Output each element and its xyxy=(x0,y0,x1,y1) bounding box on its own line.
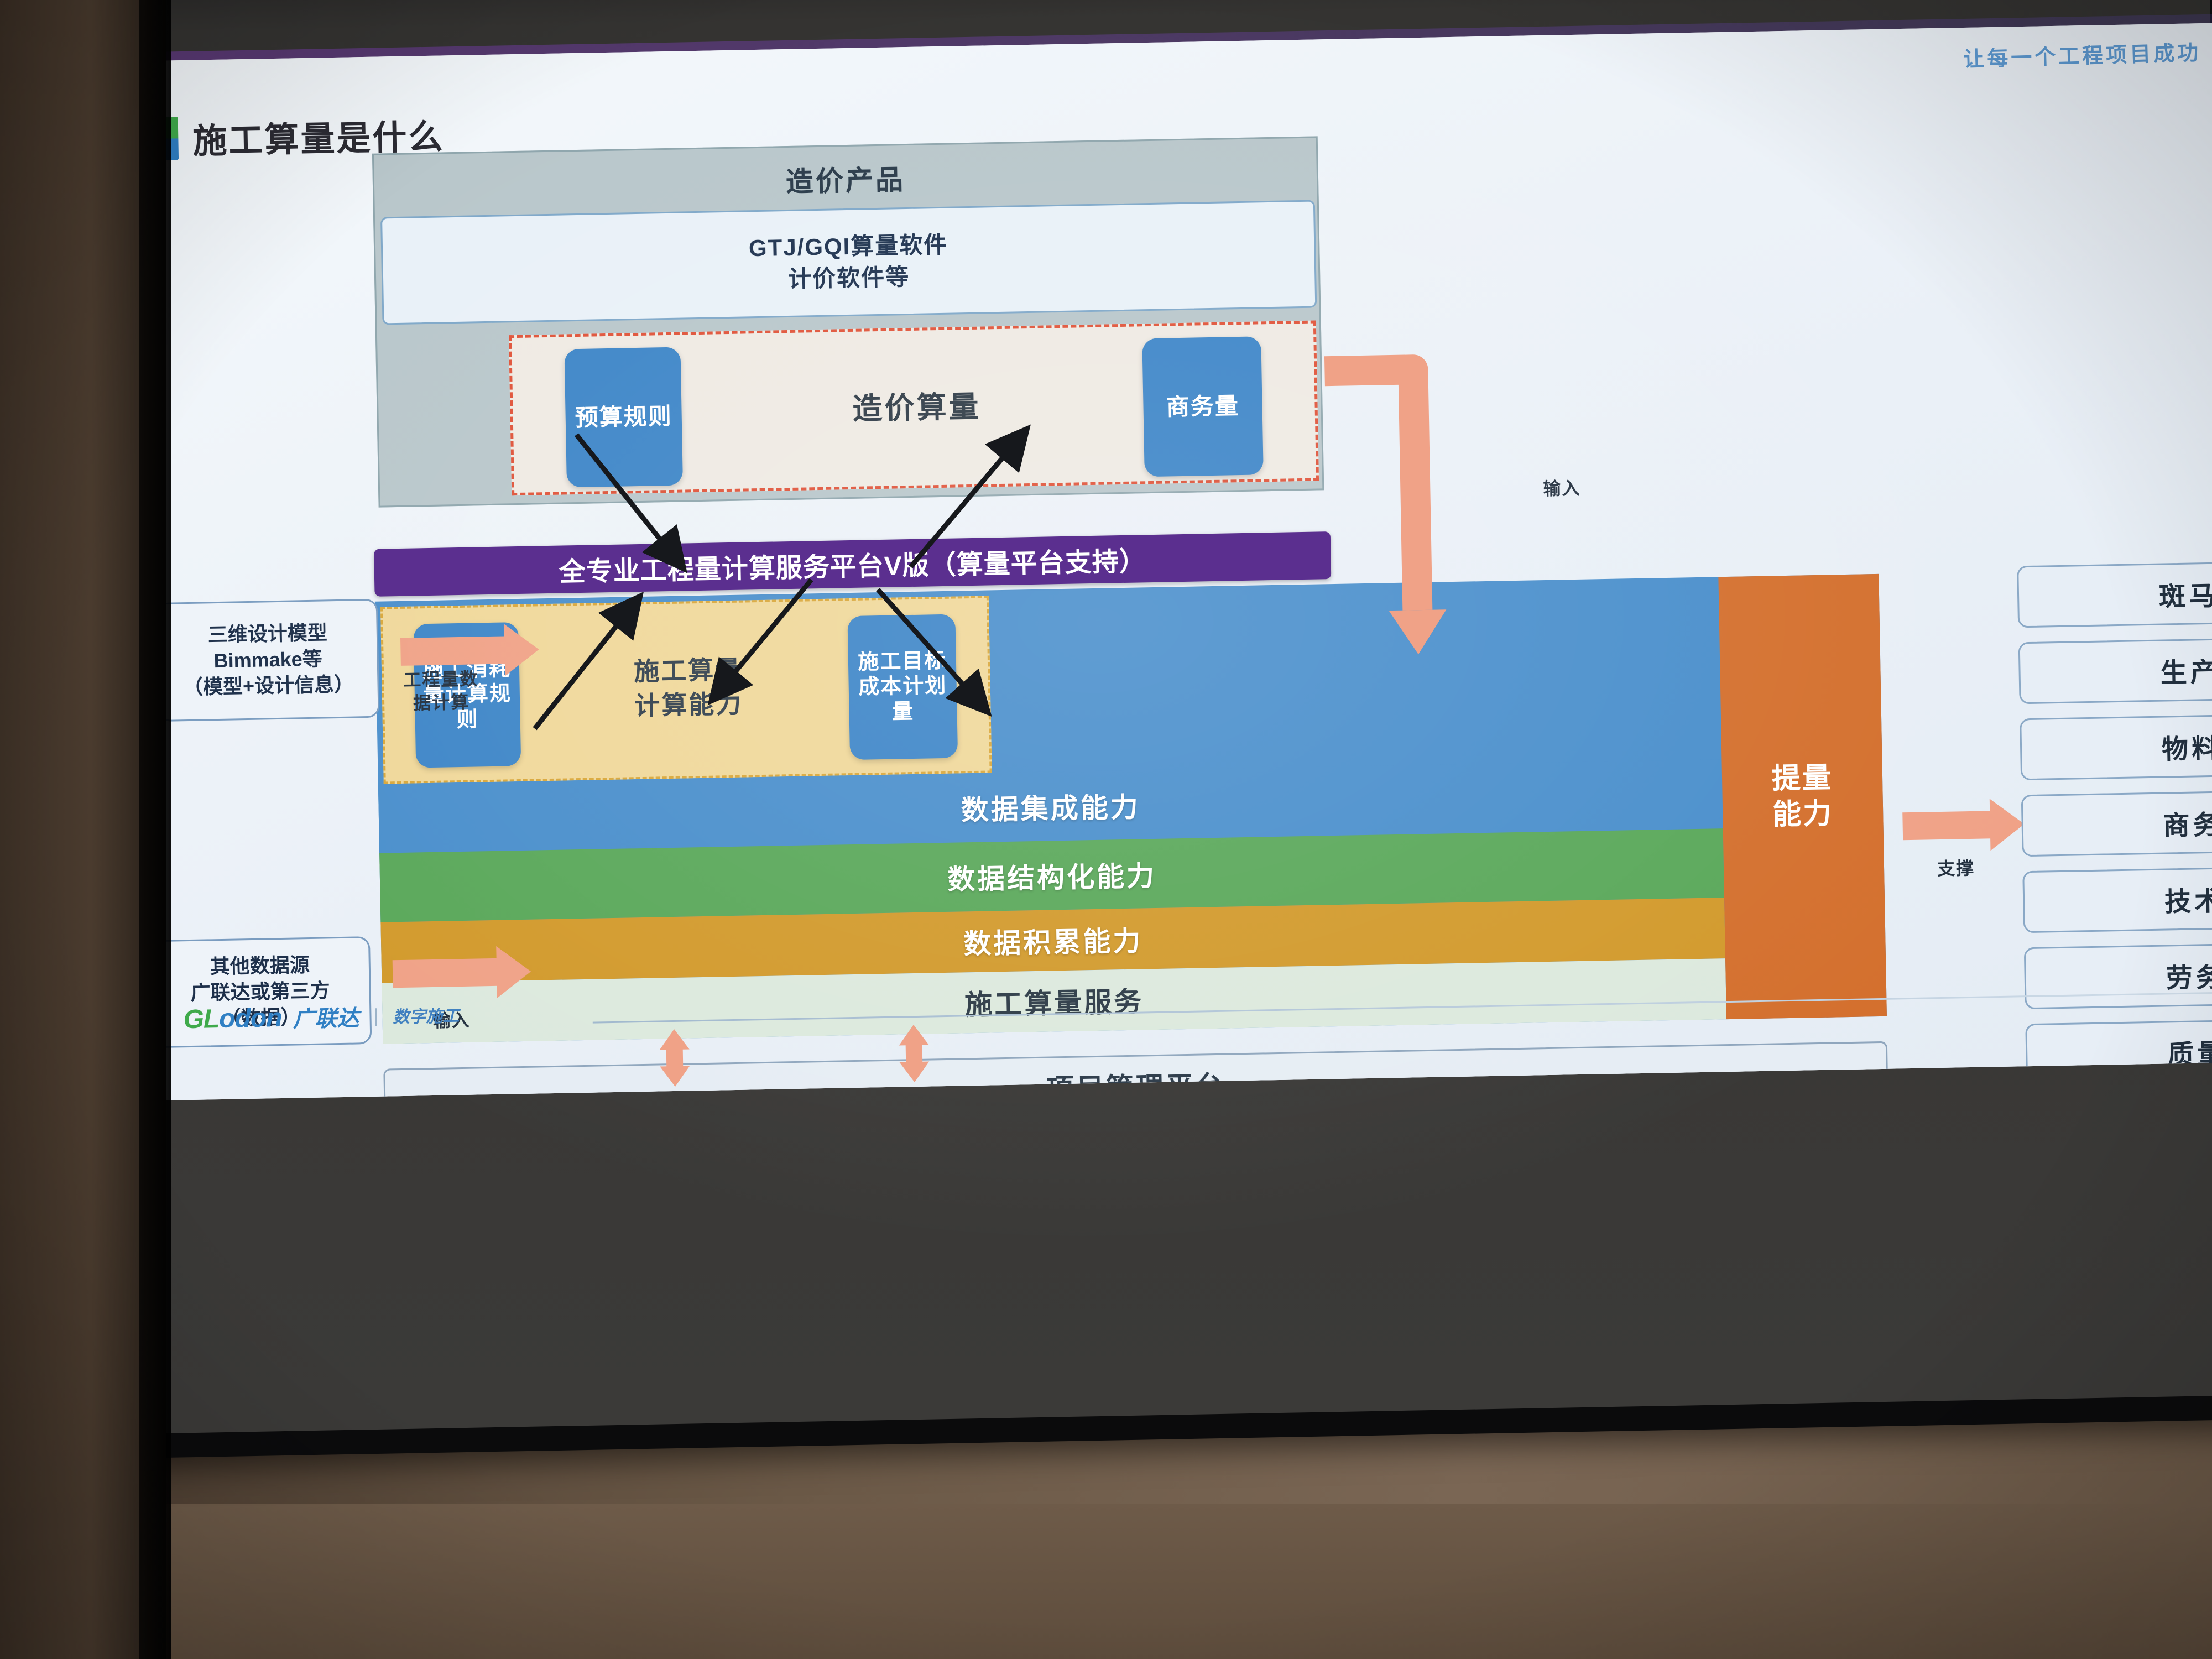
projector-screen-surface: 让每一个工程项目成功 施工算量是什么 造价产品 GTJ/GQI算量软件 计价软件… xyxy=(53,0,2212,1435)
arrow-input-left xyxy=(392,946,531,1000)
cost-calculation-dashed-region: 预算规则 造价算量 商务量 xyxy=(509,321,1319,496)
cost-calculation-label: 造价算量 xyxy=(750,380,1083,430)
lower-wall xyxy=(0,1504,2212,1659)
logo-odon: odon xyxy=(219,1003,282,1033)
costing-software-box: GTJ/GQI算量软件 计价软件等 xyxy=(380,200,1317,325)
logo-gl: GL xyxy=(183,1004,220,1034)
chip-target-cost-plan: 施工目标成本计划量 xyxy=(847,614,958,760)
header-tagline: 让每一个工程项目成功 xyxy=(1963,35,2201,72)
label-quantity-calculation-line2: 据计算 xyxy=(394,691,489,716)
sector-box-3[interactable]: 商务 xyxy=(2021,789,2212,857)
construction-calc-label-line1: 施工算量 xyxy=(550,651,827,690)
logo-separator: | xyxy=(373,1005,379,1026)
presentation-slide: 让每一个工程项目成功 施工算量是什么 造价产品 GTJ/GQI算量软件 计价软件… xyxy=(88,23,2212,1102)
input-box-other-line1: 其他数据源 xyxy=(210,952,310,980)
label-quantity-calculation: 工程量数 据计算 xyxy=(394,667,488,715)
capability-block: 施工消耗量计算规则 施工算量 计算能力 施工目标成本计划量 数据集成能力 数据结… xyxy=(375,574,1887,1044)
wall-pillar-edge xyxy=(139,0,171,1659)
quantity-boost-line1: 提量 xyxy=(1771,760,1833,797)
project-management-platform-bar: 项目管理平台 xyxy=(383,1041,1888,1102)
quantity-boost-line2: 能力 xyxy=(1772,796,1834,833)
logo-subtitle: 数字施工 xyxy=(393,1002,460,1027)
quantity-boost-column: 提量 能力 xyxy=(1718,574,1887,1019)
input-box-design-model: 三维设计模型 Bimmake等 （模型+设计信息） xyxy=(156,599,380,722)
input-box-design-model-line2: Bimmake等 xyxy=(213,646,322,674)
logo-wordmark: GLodon xyxy=(183,1002,282,1034)
software-line-2: 计价软件等 xyxy=(788,261,910,295)
sector-box-0[interactable]: 斑马 xyxy=(2017,560,2212,628)
chip-budget-rule: 预算规则 xyxy=(564,347,683,488)
input-box-design-model-line3: （模型+设计信息） xyxy=(183,671,354,700)
logo-chinese-name: 广联达 xyxy=(293,1000,359,1033)
software-line-1: GTJ/GQI算量软件 xyxy=(748,229,948,264)
label-quantity-calculation-line1: 工程量数 xyxy=(394,667,488,692)
cost-product-title: 造价产品 xyxy=(374,150,1317,207)
sector-box-6[interactable]: 质量 xyxy=(2025,1018,2212,1086)
sector-box-2[interactable]: 物料 xyxy=(2020,712,2212,780)
room-background: 让每一个工程项目成功 施工算量是什么 造价产品 GTJ/GQI算量软件 计价软件… xyxy=(0,0,2212,1659)
construction-calc-label-line2: 计算能力 xyxy=(550,685,827,724)
sector-box-1[interactable]: 生产 xyxy=(2018,636,2212,704)
input-box-design-model-line1: 三维设计模型 xyxy=(207,620,327,649)
brand-logo: GLodon 广联达 | 数字施工 xyxy=(183,998,460,1035)
arrow-input-elbow xyxy=(1324,369,1417,612)
sector-box-4[interactable]: 技术 xyxy=(2022,865,2212,933)
construction-calc-label: 施工算量 计算能力 xyxy=(550,651,827,724)
projected-image-area: 让每一个工程项目成功 施工算量是什么 造价产品 GTJ/GQI算量软件 计价软件… xyxy=(88,23,2212,1102)
cost-product-panel: 造价产品 GTJ/GQI算量软件 计价软件等 预算规则 造价算量 商务量 xyxy=(372,136,1324,507)
label-input-top: 输入 xyxy=(1526,477,1598,501)
arrow-support xyxy=(1902,798,2025,852)
projector-screen-frame: 让每一个工程项目成功 施工算量是什么 造价产品 GTJ/GQI算量软件 计价软件… xyxy=(30,0,2212,1460)
sector-box-5[interactable]: 劳务 xyxy=(2024,941,2212,1009)
label-support: 支撑 xyxy=(1920,857,1992,881)
chip-business-quantity: 商务量 xyxy=(1142,336,1264,477)
